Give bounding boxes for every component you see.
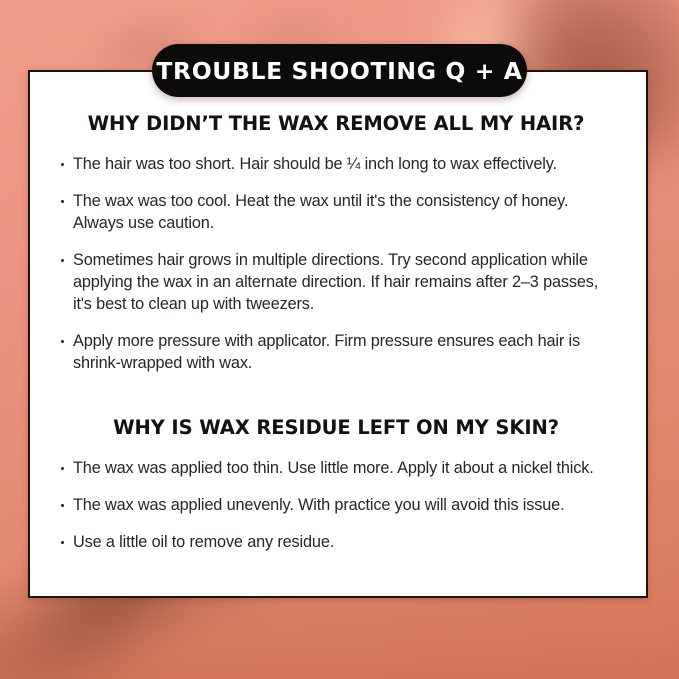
bullet-dot-icon xyxy=(61,504,64,507)
bullet-list-2: The wax was applied too thin. Use little… xyxy=(60,457,612,553)
content-card: WHY DIDN’T THE WAX REMOVE ALL MY HAIR? T… xyxy=(28,70,648,598)
bullet-dot-icon xyxy=(61,541,64,544)
list-item-text: The wax was applied unevenly. With pract… xyxy=(73,496,564,514)
list-item-text: Sometimes hair grows in multiple directi… xyxy=(73,251,598,313)
card-inner: WHY DIDN’T THE WAX REMOVE ALL MY HAIR? T… xyxy=(30,72,646,553)
list-item: The wax was applied unevenly. With pract… xyxy=(60,494,612,516)
list-item-text: The wax was applied too thin. Use little… xyxy=(73,459,594,477)
list-item: The wax was applied too thin. Use little… xyxy=(60,457,612,479)
bullet-list-1: The hair was too short. Hair should be ¼… xyxy=(60,153,612,374)
section-heading-2: WHY IS WAX RESIDUE LEFT ON MY SKIN? xyxy=(60,416,612,439)
list-item: Use a little oil to remove any residue. xyxy=(60,531,612,553)
list-item: Sometimes hair grows in multiple directi… xyxy=(60,249,612,315)
title-banner-text: TROUBLE SHOOTING Q + A xyxy=(156,57,522,85)
list-item: The hair was too short. Hair should be ¼… xyxy=(60,153,612,175)
list-item-text: The hair was too short. Hair should be ¼… xyxy=(73,155,557,173)
bullet-dot-icon xyxy=(61,467,64,470)
list-item-text: Use a little oil to remove any residue. xyxy=(73,533,334,551)
bullet-dot-icon xyxy=(61,200,64,203)
section-heading-1: WHY DIDN’T THE WAX REMOVE ALL MY HAIR? xyxy=(60,112,612,135)
title-banner: TROUBLE SHOOTING Q + A xyxy=(152,44,527,97)
list-item-text: Apply more pressure with applicator. Fir… xyxy=(73,332,580,372)
bullet-dot-icon xyxy=(61,340,64,343)
list-item: Apply more pressure with applicator. Fir… xyxy=(60,330,612,374)
list-item: The wax was too cool. Heat the wax until… xyxy=(60,190,612,234)
list-item-text: The wax was too cool. Heat the wax until… xyxy=(73,192,568,232)
bullet-dot-icon xyxy=(61,163,64,166)
section-hair-removal: WHY DIDN’T THE WAX REMOVE ALL MY HAIR? T… xyxy=(60,112,612,374)
section-wax-residue: WHY IS WAX RESIDUE LEFT ON MY SKIN? The … xyxy=(60,416,612,553)
bullet-dot-icon xyxy=(61,259,64,262)
